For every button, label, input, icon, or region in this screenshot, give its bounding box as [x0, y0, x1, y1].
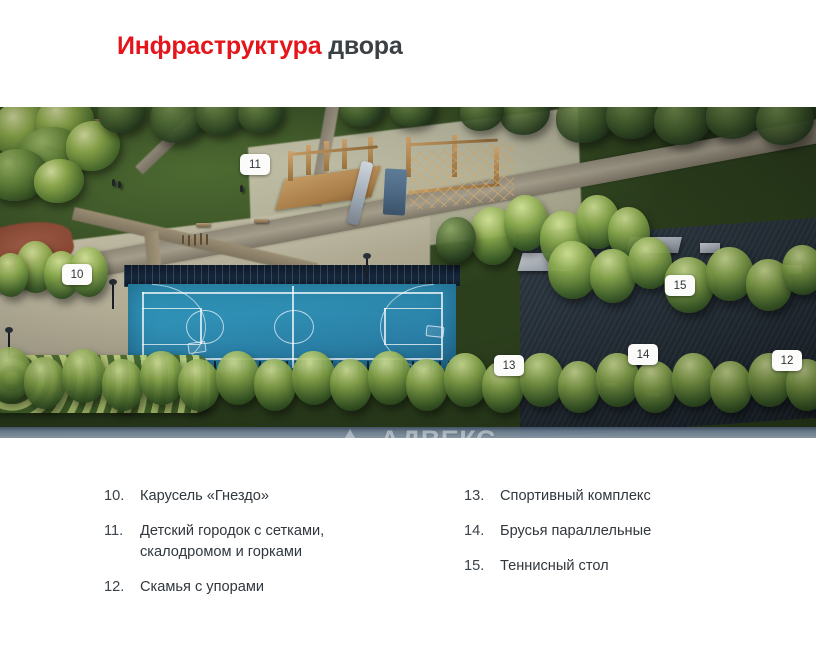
playground-beam: [292, 145, 378, 155]
image-bottom-edge: [0, 427, 816, 438]
legend-column-right: 13. Спортивный комплекс 14. Брусья парал…: [464, 486, 764, 591]
legend-item-10: 10. Карусель «Гнездо»: [104, 486, 414, 507]
legend-column-left: 10. Карусель «Гнездо» 11. Детский городо…: [104, 486, 414, 613]
playground-post: [342, 139, 347, 169]
light-pole: [366, 257, 368, 279]
legend-number: 14.: [464, 521, 500, 542]
playground-wide-slide: [383, 168, 407, 215]
playground-post: [306, 145, 311, 175]
aerial-render-canvas: [0, 107, 816, 438]
legend-number: 11.: [104, 521, 140, 542]
bollard: [188, 235, 190, 246]
person-figure: [112, 179, 115, 186]
legend-item-13: 13. Спортивный комплекс: [464, 486, 764, 507]
legend-label: Теннисный стол: [500, 556, 609, 577]
tree: [406, 359, 448, 411]
map-marker-14[interactable]: 14: [628, 344, 658, 365]
legend-item-12: 12. Скамья с упорами: [104, 577, 414, 598]
tree: [102, 359, 144, 411]
bollard: [194, 234, 196, 246]
bench: [196, 223, 210, 227]
map-marker-13[interactable]: 13: [494, 355, 524, 376]
tree: [558, 361, 600, 413]
court-line: [142, 292, 144, 360]
legend-label: Спортивный комплекс: [500, 486, 651, 507]
legend-item-11: 11. Детский городок с сетками, скалодром…: [104, 521, 414, 563]
climbing-net: [410, 142, 514, 211]
page-title-rest: двора: [328, 32, 402, 60]
tree: [782, 245, 816, 295]
person-figure: [118, 181, 121, 188]
legend-label: Детский городок с сетками, скалодромом и…: [140, 521, 324, 563]
light-pole: [112, 283, 114, 309]
playground-structure: [276, 125, 516, 221]
tree: [24, 357, 66, 409]
map-marker-15[interactable]: 15: [665, 275, 695, 296]
tree: [710, 361, 752, 413]
court-center-circle: [274, 310, 314, 344]
legend-item-14: 14. Брусья параллельные: [464, 521, 764, 542]
bollard: [200, 233, 202, 245]
legend-label: Скамья с упорами: [140, 577, 264, 598]
slide-infrastructure: Инфраструктура двора: [0, 0, 816, 666]
legend-number: 10.: [104, 486, 140, 507]
slide-header: Инфраструктура двора: [0, 0, 816, 107]
bollard: [182, 235, 184, 244]
person-figure: [240, 185, 243, 192]
legend-number: 12.: [104, 577, 140, 598]
legend-label: Карусель «Гнездо»: [140, 486, 269, 507]
page-title-accent: Инфраструктура: [117, 32, 321, 60]
tree: [634, 361, 676, 413]
basketball-hoop: [425, 325, 444, 338]
tree: [62, 349, 106, 403]
map-marker-12[interactable]: 12: [772, 350, 802, 371]
legend-section: 10. Карусель «Гнездо» 11. Детский городо…: [0, 438, 816, 666]
legend-label: Брусья параллельные: [500, 521, 651, 542]
tree: [330, 359, 372, 411]
page-title: Инфраструктура двора: [117, 34, 403, 59]
tree: [254, 359, 296, 411]
legend-item-15: 15. Теннисный стол: [464, 556, 764, 577]
map-marker-11[interactable]: 11: [240, 154, 270, 175]
legend-number: 13.: [464, 486, 500, 507]
aerial-courtyard-image: АДВЕКС НЕДВИЖИМОСТЬ 10 11 12 13 14 15: [0, 107, 816, 438]
bench: [254, 219, 268, 223]
bollard: [206, 234, 208, 245]
playground-post: [324, 141, 329, 171]
map-marker-10[interactable]: 10: [62, 264, 92, 285]
tree: [178, 359, 220, 411]
legend-number: 15.: [464, 556, 500, 577]
